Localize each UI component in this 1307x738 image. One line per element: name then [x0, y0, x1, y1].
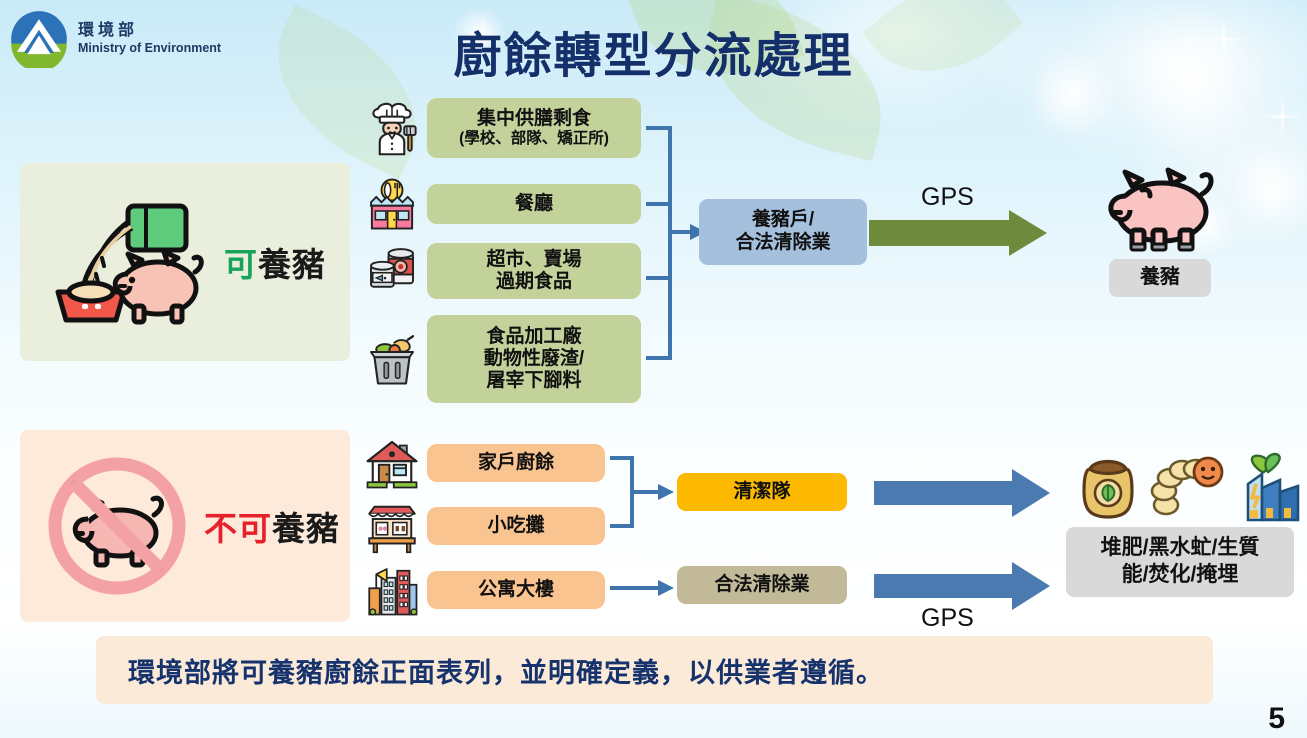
source-box-banned-2: 小吃攤 [427, 507, 605, 545]
list-item: 集中供膳剩食 (學校、部隊、矯正所) [364, 98, 641, 158]
list-item: 餐廳 [364, 176, 641, 232]
source-text: 集中供膳剩食 [477, 108, 591, 130]
category-label-allowed-rest: 養豬 [258, 246, 326, 283]
page-title: 廚餘轉型分流處理 [0, 16, 1307, 86]
black-soldier-fly-larva-icon [1150, 455, 1228, 521]
category-panel-allowed: 可養豬 [20, 163, 350, 361]
page-number: 5 [1268, 702, 1285, 736]
category-panel-banned: 不可養豬 [20, 430, 350, 622]
source-box-banned-1: 家戶廚餘 [427, 444, 605, 482]
source-text: 超市、賣場 [486, 249, 581, 271]
compost-bag-icon [1076, 453, 1140, 523]
category-label-banned-highlight: 不可 [204, 510, 272, 547]
gps-label-top: GPS [921, 183, 974, 212]
summary-banner: 環境部將可養豬廚餘正面表列，並明確定義，以供業者遵循。 [96, 636, 1213, 704]
processor-pig-farm-line2: 合法清除業 [735, 232, 830, 255]
result-other-line2: 能/焚化/掩埋 [1101, 562, 1260, 589]
transport-arrow-bottom-2 [874, 562, 1050, 610]
pig-icon [1098, 160, 1224, 256]
result-box-pig: 養豬 [1109, 259, 1211, 297]
source-box-allowed-3: 超市、賣場 過期食品 [427, 243, 641, 299]
source-box-banned-3: 公寓大樓 [427, 571, 605, 609]
no-pig-prohibited-icon [42, 451, 192, 601]
apartment-building-icon [364, 562, 420, 618]
transport-arrow-top [869, 210, 1047, 256]
source-box-allowed-2: 餐廳 [427, 184, 641, 224]
source-subtext: 動物性廢渣/ 屠宰下腳料 [484, 348, 584, 392]
source-box-allowed-4: 食品加工廠 動物性廢渣/ 屠宰下腳料 [427, 315, 641, 403]
pig-feeding-bucket-icon [50, 192, 210, 332]
result-other-line1: 堆肥/黑水虻/生質 [1101, 535, 1260, 562]
processor-legal-disposal: 合法清除業 [677, 566, 847, 604]
transport-arrow-bottom-1 [874, 469, 1050, 517]
slide-canvas: 環境部 Ministry of Environment 廚餘轉型分流處理 [0, 0, 1307, 738]
category-label-allowed-highlight: 可 [224, 246, 258, 283]
source-subtext: (學校、部隊、矯正所) [459, 130, 609, 148]
processor-pig-farm-line1: 養豬戶/ [735, 209, 830, 232]
processor-clean-crew: 清潔隊 [677, 473, 847, 511]
category-label-allowed: 可養豬 [224, 238, 326, 286]
gps-label-bottom: GPS [921, 604, 974, 633]
category-label-banned: 不可養豬 [204, 502, 340, 550]
canned-food-icon [364, 243, 420, 299]
list-item: 小吃攤 [364, 498, 605, 554]
list-item: 公寓大樓 [364, 562, 605, 618]
biomass-energy-plant-icon [1232, 450, 1300, 522]
result-box-other: 堆肥/黑水虻/生質 能/焚化/掩埋 [1066, 527, 1294, 597]
list-item: 食品加工廠 動物性廢渣/ 屠宰下腳料 [364, 315, 641, 403]
list-item: 家戶廚餘 [364, 435, 605, 491]
chef-icon [364, 100, 420, 156]
source-subtext: 過期食品 [496, 271, 572, 293]
house-icon [364, 435, 420, 491]
restaurant-icon [364, 176, 420, 232]
connector-banned-direct [610, 578, 682, 598]
source-text: 食品加工廠 [486, 326, 581, 348]
decorative-sparkle-star [1262, 96, 1302, 136]
processor-pig-farm: 養豬戶/ 合法清除業 [699, 199, 867, 265]
connector-banned-bracket [610, 450, 682, 600]
food-waste-bin-icon [364, 331, 420, 387]
category-label-banned-rest: 養豬 [272, 510, 340, 547]
source-box-allowed-1: 集中供膳剩食 (學校、部隊、矯正所) [427, 98, 641, 158]
food-stall-icon [364, 498, 420, 554]
list-item: 超市、賣場 過期食品 [364, 243, 641, 299]
decorative-bokeh [882, 430, 952, 500]
decorative-bokeh [1230, 148, 1307, 232]
